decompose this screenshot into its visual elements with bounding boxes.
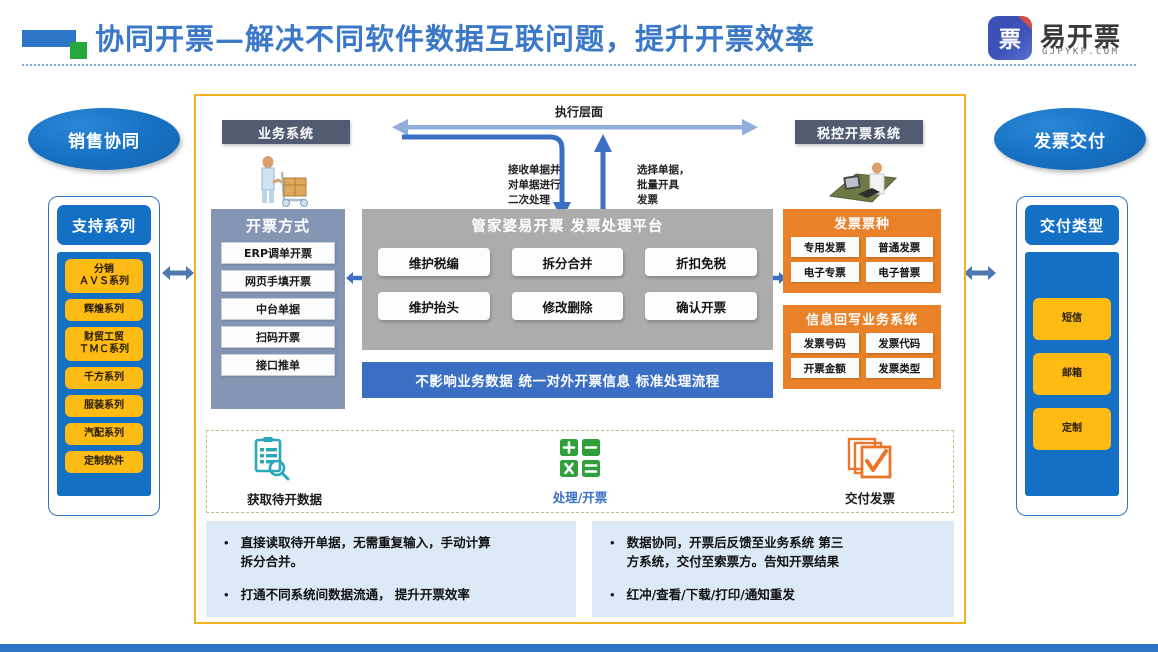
logo-domain-text: GJPYKP.COM	[1042, 47, 1119, 57]
logo-mark-icon: 票	[988, 16, 1032, 60]
step-label: 处理/开票	[553, 487, 608, 506]
platform-item-tax-code[interactable]: 维护税编	[378, 248, 490, 276]
list-item[interactable]: 邮箱	[1033, 353, 1111, 395]
document-search-icon	[247, 435, 293, 486]
method-item-web-manual[interactable]: 网页手填开票	[221, 270, 335, 292]
method-item-midplatform[interactable]: 中台单据	[221, 298, 335, 320]
delivery-type-list: 短信 邮箱 定制	[1025, 252, 1119, 496]
list-item: • 直接读取待开单据，无需重复输入，手动计算 拆分合并。	[216, 534, 564, 572]
process-steps-strip: 获取待开数据 处理/开票	[206, 430, 954, 513]
bullet-text: 红冲/查看/下载/打印/通知重发	[627, 586, 795, 605]
step-label: 交付发票	[845, 488, 895, 507]
invoice-processing-platform-panel: 管家婆易开票 发票处理平台 维护税编 拆分合并 折扣免税 维护抬头 修改删除 确…	[362, 209, 773, 350]
invoice-type-e-special[interactable]: 电子专票	[791, 262, 859, 282]
page-header: 协同开票—解决不同软件数据互联问题，提升开票效率 票 易开票 GJPYKP.CO…	[0, 0, 1158, 76]
bullet-text: 打通不同系统间数据流通， 提升开票效率	[241, 586, 470, 605]
writeback-grid: 发票号码 发票代码 开票金额 发票类型	[791, 333, 933, 378]
platform-item-discount-exempt[interactable]: 折扣免税	[645, 248, 757, 276]
method-item-erp[interactable]: ERP调单开票	[221, 242, 335, 264]
flow-label-select-documents: 选择单据， 批量开具 发票	[637, 163, 690, 209]
invoice-type-grid: 专用发票 普通发票 电子专票 电子普票	[791, 237, 933, 282]
method-item-api-push[interactable]: 接口推单	[221, 354, 335, 376]
computer-operator-icon	[822, 152, 906, 208]
platform-item-split-merge[interactable]: 拆分合并	[512, 248, 624, 276]
support-series-title: 支持系列	[57, 205, 151, 245]
writeback-title: 信息回写业务系统	[791, 309, 933, 328]
list-item[interactable]: 汽配系列	[65, 423, 143, 445]
writeback-invoice-number[interactable]: 发票号码	[791, 333, 859, 353]
footer-accent-bar	[0, 644, 1158, 652]
page-title: 协同开票—解决不同软件数据互联问题，提升开票效率	[95, 16, 815, 58]
business-system-header: 业务系统	[222, 120, 350, 144]
platform-item-confirm-invoice[interactable]: 确认开票	[645, 292, 757, 320]
bullet-text: 数据协同，开票后反馈至业务系统 第三 方系统，交付至索票方。告知开票结果	[627, 534, 844, 572]
title-accent-green-square	[70, 42, 87, 59]
platform-benefits-banner: 不影响业务数据 统一对外开票信息 标准处理流程	[362, 362, 773, 398]
bullet-marker: •	[216, 586, 229, 605]
benefits-right-box: • 数据协同，开票后反馈至业务系统 第三 方系统，交付至索票方。告知开票结果 •…	[592, 521, 954, 617]
invoice-type-special[interactable]: 专用发票	[791, 237, 859, 257]
list-item[interactable]: 财贸工贸 ＴＭＣ系列	[65, 327, 143, 361]
invoice-type-title: 发票票种	[791, 213, 933, 232]
support-series-list: 分销 ＡＶＳ系列 辉煌系列 财贸工贸 ＴＭＣ系列 千方系列 服装系列 汽配系列 …	[57, 252, 151, 496]
platform-item-edit-delete[interactable]: 修改删除	[512, 292, 624, 320]
platform-feature-grid: 维护税编 拆分合并 折扣免税 维护抬头 修改删除 确认开票	[378, 248, 757, 320]
bullet-marker: •	[602, 586, 615, 605]
brand-logo: 票 易开票 GJPYKP.COM	[988, 14, 1136, 64]
support-series-card: 支持系列 分销 ＡＶＳ系列 辉煌系列 财贸工贸 ＴＭＣ系列 千方系列 服装系列 …	[48, 196, 160, 516]
step-process-invoice: 处理/开票	[456, 431, 705, 512]
bullet-marker: •	[602, 534, 615, 572]
invoice-type-e-normal[interactable]: 电子普票	[866, 262, 934, 282]
title-accent-blue-bar	[22, 30, 76, 47]
step-deliver-invoice: 交付发票	[704, 431, 953, 512]
benefits-left-box: • 直接读取待开单据，无需重复输入，手动计算 拆分合并。 • 打通不同系统间数据…	[206, 521, 576, 617]
tax-control-system-header: 税控开票系统	[795, 120, 923, 144]
right-connector-arrow-icon	[962, 262, 998, 284]
list-item: • 数据协同，开票后反馈至业务系统 第三 方系统，交付至索票方。告知开票结果	[602, 534, 942, 572]
logo-corner-ribbon-icon	[1018, 16, 1032, 30]
list-item[interactable]: 分销 ＡＶＳ系列	[65, 259, 143, 293]
step-fetch-data: 获取待开数据	[207, 431, 456, 512]
list-item: • 打通不同系统间数据流通， 提升开票效率	[216, 586, 564, 605]
list-item: • 红冲/查看/下载/打印/通知重发	[602, 586, 942, 605]
title-divider	[22, 64, 1136, 66]
step-label: 获取待开数据	[247, 489, 322, 508]
left-connector-arrow-icon	[160, 262, 196, 284]
writeback-invoice-amount[interactable]: 开票金额	[791, 358, 859, 378]
worker-with-cart-icon	[238, 152, 322, 208]
delivery-type-title: 交付类型	[1025, 205, 1119, 245]
invoice-method-title: 开票方式	[221, 215, 335, 236]
writeback-invoice-type[interactable]: 发票类型	[866, 358, 934, 378]
list-item[interactable]: 短信	[1033, 298, 1111, 340]
delivery-type-card: 交付类型 短信 邮箱 定制	[1016, 196, 1128, 516]
writeback-invoice-code[interactable]: 发票代码	[866, 333, 934, 353]
bullet-text: 直接读取待开单据，无需重复输入，手动计算 拆分合并。	[241, 534, 491, 572]
invoice-method-panel: 开票方式 ERP调单开票 网页手填开票 中台单据 扫码开票 接口推单	[211, 209, 345, 409]
list-item[interactable]: 服装系列	[65, 395, 143, 417]
invoice-delivery-badge: 发票交付	[994, 108, 1146, 170]
platform-item-header-maintain[interactable]: 维护抬头	[378, 292, 490, 320]
list-item[interactable]: 千方系列	[65, 367, 143, 389]
list-item[interactable]: 辉煌系列	[65, 299, 143, 321]
writeback-panel: 信息回写业务系统 发票号码 发票代码 开票金额 发票类型	[783, 305, 941, 389]
invoice-check-icon	[847, 436, 895, 485]
list-item[interactable]: 定制软件	[65, 451, 143, 473]
method-item-scan[interactable]: 扫码开票	[221, 326, 335, 348]
platform-title: 管家婆易开票 发票处理平台	[362, 209, 773, 236]
invoice-type-panel: 发票票种 专用发票 普通发票 电子专票 电子普票	[783, 209, 941, 293]
list-item[interactable]: 定制	[1033, 408, 1111, 450]
invoice-type-normal[interactable]: 普通发票	[866, 237, 934, 257]
calculator-icon	[557, 437, 603, 484]
bullet-marker: •	[216, 534, 229, 572]
sales-collaboration-badge: 销售协同	[28, 108, 180, 170]
flow-label-receive-documents: 接收单据并 对单据进行 二次处理	[508, 163, 561, 209]
